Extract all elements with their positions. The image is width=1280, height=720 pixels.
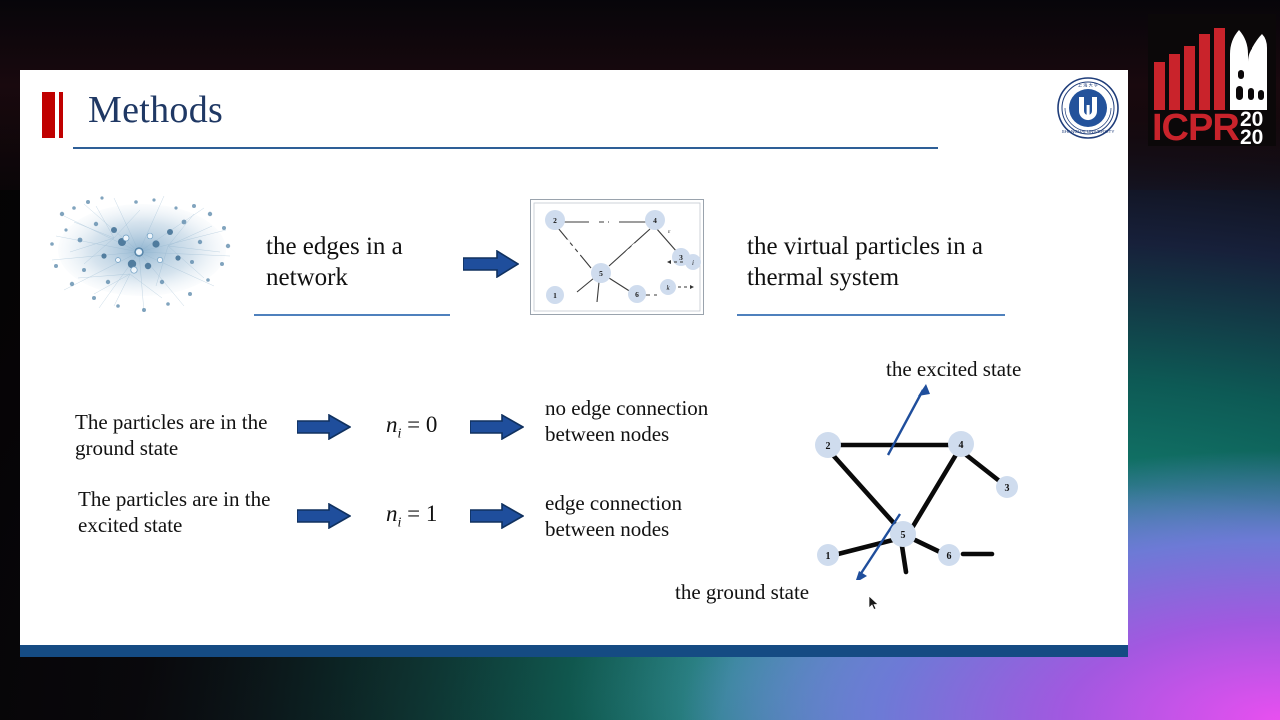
statement-excited-state: The particles are in the excited state xyxy=(78,487,278,538)
formula-excited-state: ni = 1 xyxy=(386,501,437,532)
svg-text:1: 1 xyxy=(826,551,831,562)
result-no-edge: no edge connection between nodes xyxy=(545,396,755,447)
svg-text:6: 6 xyxy=(947,551,952,562)
svg-text:5: 5 xyxy=(901,530,906,541)
mouse-cursor xyxy=(869,596,879,610)
concept-left-underline xyxy=(254,314,450,316)
svg-text:2: 2 xyxy=(826,441,831,452)
svg-text:SHANGHAI UNIVERSITY: SHANGHAI UNIVERSITY xyxy=(1062,129,1115,134)
svg-text:2: 2 xyxy=(553,216,557,225)
svg-text:20: 20 xyxy=(1240,126,1263,146)
title-underline xyxy=(73,147,938,149)
icpr-logo: ICPR 20 20 xyxy=(1148,14,1276,146)
result-edge: edge connection between nodes xyxy=(545,491,755,542)
formula-value: = 1 xyxy=(407,501,437,526)
page-title: Methods xyxy=(88,88,223,132)
arrow-row1 xyxy=(463,250,519,278)
svg-text:4: 4 xyxy=(959,440,964,451)
concept-left-text: the edges in a network xyxy=(266,232,466,293)
svg-text:3: 3 xyxy=(1005,483,1010,494)
concept-right-text: the virtual particles in a thermal syste… xyxy=(747,232,1027,293)
boxed-network-diagram: 2 4 3 5 1 6 ε i k xyxy=(530,199,704,315)
screen: Methods SHANGHAI UNIVERSITY 上 海 大 学 xyxy=(0,0,1280,720)
shanghai-university-logo: SHANGHAI UNIVERSITY 上 海 大 学 xyxy=(1056,76,1120,140)
arrow-row3-right xyxy=(470,503,524,529)
label-excited-state: the excited state xyxy=(886,357,1021,383)
node-link-graph: 2 4 3 5 1 6 xyxy=(760,380,1060,580)
formula-value: = 0 xyxy=(407,412,437,437)
formula-subscript-i: i xyxy=(398,516,402,531)
label-ground-state: the ground state xyxy=(675,580,809,606)
svg-text:4: 4 xyxy=(653,216,657,225)
statement-ground-state: The particles are in the ground state xyxy=(75,410,275,461)
arrow-row2-right xyxy=(470,414,524,440)
svg-text:i: i xyxy=(692,259,694,267)
slide-bottom-bar xyxy=(20,645,1128,657)
arrow-row2-left xyxy=(297,414,351,440)
svg-text:1: 1 xyxy=(553,291,557,300)
accent-bar-thin xyxy=(59,92,63,138)
formula-subscript-i: i xyxy=(398,427,402,442)
svg-text:5: 5 xyxy=(599,269,603,278)
formula-symbol-n: n xyxy=(386,412,398,437)
title-accent-marks xyxy=(42,92,64,138)
concept-right-underline xyxy=(737,314,1005,316)
accent-bar-thick xyxy=(42,92,55,138)
svg-text:6: 6 xyxy=(635,290,639,299)
svg-text:上 海 大 学: 上 海 大 学 xyxy=(1078,82,1098,89)
network-hairball-illustration xyxy=(44,186,240,318)
formula-ground-state: ni = 0 xyxy=(386,412,437,443)
svg-text:ICPR: ICPR xyxy=(1152,107,1239,146)
formula-symbol-n: n xyxy=(386,501,398,526)
arrow-row3-left xyxy=(297,503,351,529)
svg-text:3: 3 xyxy=(679,253,683,262)
